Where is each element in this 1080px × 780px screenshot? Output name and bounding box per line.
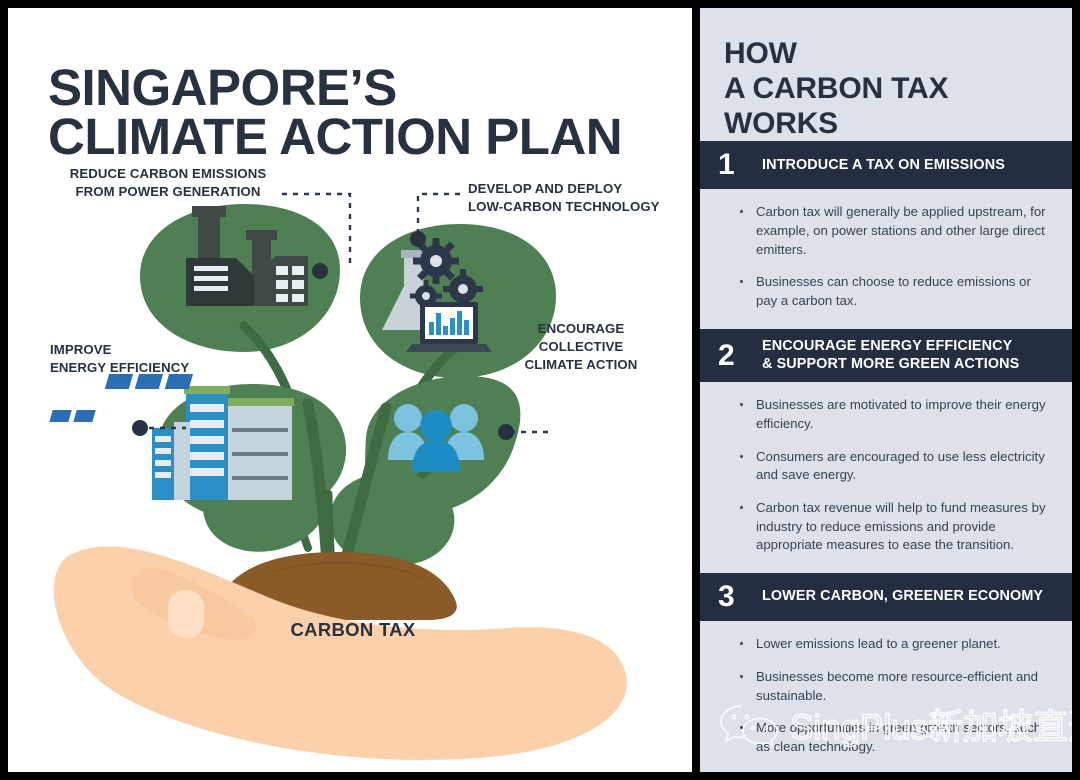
- step-3-header: 3 LOWER CARBON, GREENER ECONOMY: [700, 573, 1072, 621]
- step-2-header: 2 ENCOURAGE ENERGY EFFICIENCY & SUPPORT …: [700, 329, 1072, 382]
- list-item: Carbon tax will generally be applied ups…: [740, 203, 1054, 259]
- side-panel-title: HOW A CARBON TAX WORKS: [700, 8, 1072, 141]
- list-item: Businesses become more resource-efficien…: [740, 668, 1054, 705]
- step-3-number: 3: [718, 582, 762, 612]
- dot-collective: [498, 424, 514, 440]
- dot-efficiency: [132, 420, 148, 436]
- dot-technology: [410, 231, 426, 247]
- list-item: Consumers are encouraged to use less ele…: [740, 448, 1054, 485]
- step-1: 1 INTRODUCE A TAX ON EMISSIONS Carbon ta…: [700, 141, 1072, 329]
- list-item: More opportunities in green growth secto…: [740, 719, 1054, 756]
- step-2-number: 2: [718, 341, 762, 371]
- callout-reduce-carbon-emissions: REDUCE CARBON EMISSIONS FROM POWER GENER…: [38, 165, 298, 201]
- step-2-body: Businesses are motivated to improve thei…: [700, 382, 1072, 573]
- step-2: 2 ENCOURAGE ENERGY EFFICIENCY & SUPPORT …: [700, 329, 1072, 573]
- step-1-body: Carbon tax will generally be applied ups…: [700, 189, 1072, 329]
- step-1-title: INTRODUCE A TAX ON EMISSIONS: [762, 157, 1005, 175]
- list-item: Businesses can choose to reduce emission…: [740, 273, 1054, 310]
- plant-illustration: [8, 8, 692, 772]
- step-2-title: ENCOURAGE ENERGY EFFICIENCY & SUPPORT MO…: [762, 338, 1019, 373]
- list-item: Carbon tax revenue will help to fund mea…: [740, 499, 1054, 555]
- callout-develop-low-carbon-technology: DEVELOP AND DEPLOY LOW-CARBON TECHNOLOGY: [468, 180, 692, 216]
- left-panel: SINGAPORE’S CLIMATE ACTION PLAN: [8, 8, 692, 772]
- list-item: Businesses are motivated to improve thei…: [740, 396, 1054, 433]
- right-panel: HOW A CARBON TAX WORKS 1 INTRODUCE A TAX…: [700, 8, 1072, 772]
- dot-power: [312, 263, 328, 279]
- step-3: 3 LOWER CARBON, GREENER ECONOMY Lower em…: [700, 573, 1072, 772]
- step-3-title: LOWER CARBON, GREENER ECONOMY: [762, 588, 1043, 606]
- carbon-tax-label: CARBON TAX: [208, 619, 498, 641]
- callout-encourage-collective-climate-action: ENCOURAGE COLLECTIVE CLIMATE ACTION: [486, 320, 676, 373]
- step-1-header: 1 INTRODUCE A TAX ON EMISSIONS: [700, 141, 1072, 189]
- step-3-body: Lower emissions lead to a greener planet…: [700, 621, 1072, 772]
- callout-improve-energy-efficiency: IMPROVE ENERGY EFFICIENCY: [50, 341, 270, 377]
- list-item: Lower emissions lead to a greener planet…: [740, 635, 1054, 654]
- infographic-page: SINGAPORE’S CLIMATE ACTION PLAN: [0, 0, 1080, 780]
- step-1-number: 1: [718, 150, 762, 180]
